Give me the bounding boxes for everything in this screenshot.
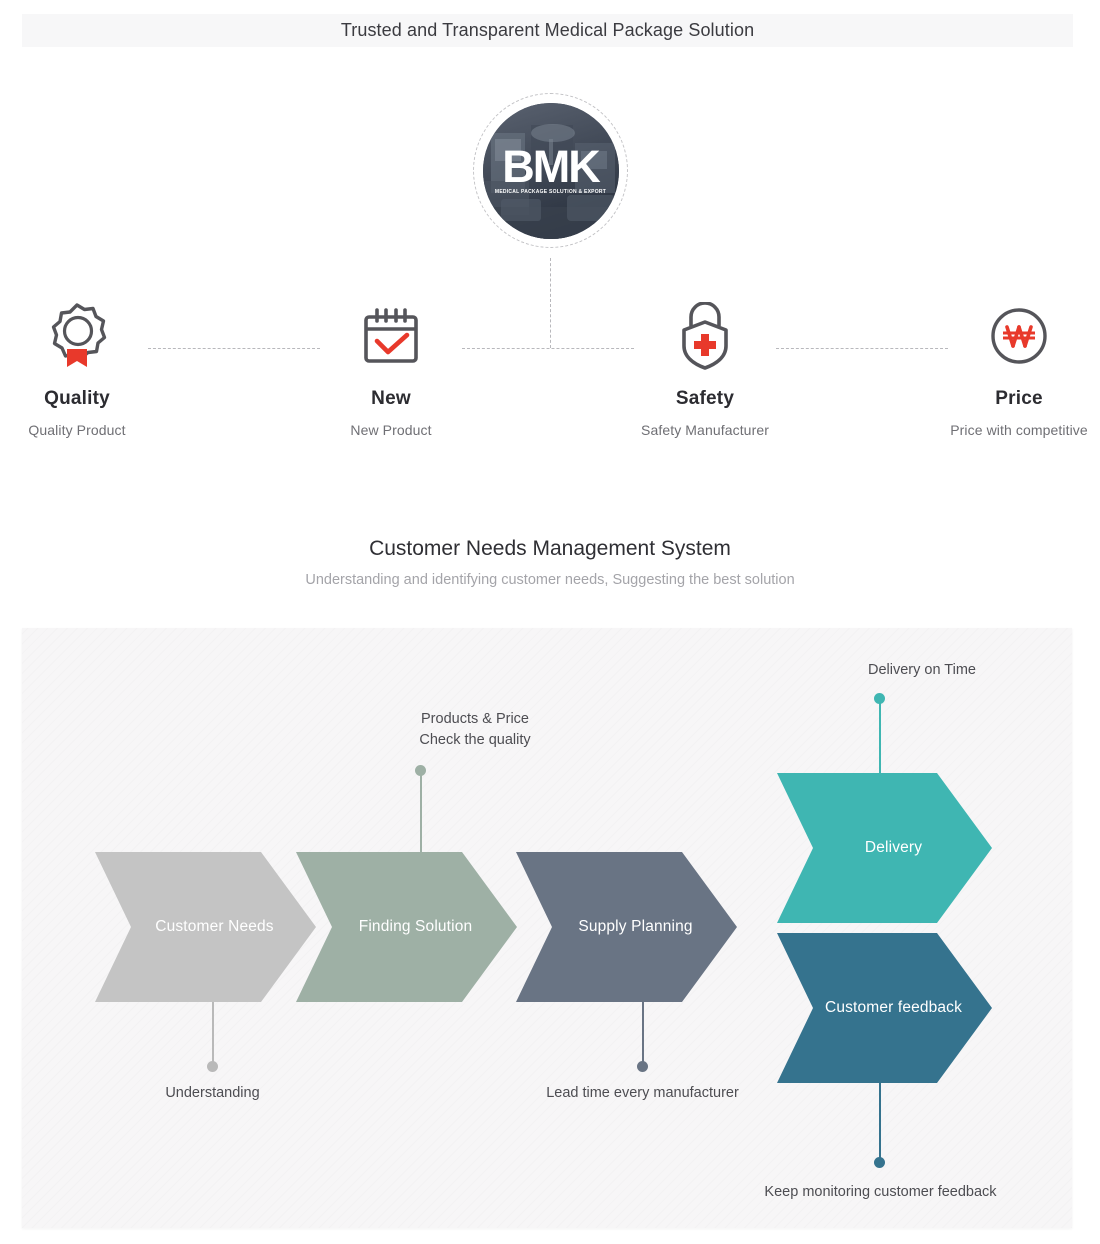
dot-delivery-on-time: [874, 693, 885, 704]
logo-name: BMK: [502, 146, 598, 189]
stem-lead-time: [642, 1002, 644, 1066]
logo-disc: BMK MEDICAL PACKAGE SOLUTION & EXPORT: [483, 103, 619, 239]
flow-step-label: Customer feedback: [825, 999, 962, 1017]
dot-products-price: [415, 765, 426, 776]
logo-wordmark: BMK MEDICAL PACKAGE SOLUTION & EXPORT: [483, 103, 619, 239]
feature-quality: Quality Quality Product: [0, 300, 187, 438]
flow-step-delivery[interactable]: Delivery: [777, 773, 992, 923]
flow-step-finding-solution[interactable]: Finding Solution: [296, 852, 517, 1002]
annotation-keep-monitoring: Keep monitoring customer feedback: [740, 1182, 1021, 1203]
flow-step-label: Delivery: [865, 839, 922, 857]
shield-lock-cross-icon: [595, 300, 815, 372]
flow-step-label: Finding Solution: [359, 918, 473, 936]
feature-title: Price: [909, 388, 1100, 410]
annotation-understanding: Understanding: [102, 1083, 323, 1104]
feature-title: New: [281, 388, 501, 410]
flow-step-label: Customer Needs: [155, 918, 273, 936]
company-logo: BMK MEDICAL PACKAGE SOLUTION & EXPORT: [473, 93, 628, 248]
logo-tagline: MEDICAL PACKAGE SOLUTION & EXPORT: [495, 189, 606, 195]
annotation-delivery-on-time: Delivery on Time: [812, 660, 1032, 681]
feature-safety: Safety Safety Manufacturer: [595, 300, 815, 438]
feature-row: Quality Quality Product New New Product: [0, 300, 1100, 450]
flow-step-label: Supply Planning: [578, 918, 692, 936]
feature-desc: Quality Product: [0, 422, 187, 438]
feature-desc: Safety Manufacturer: [595, 422, 815, 438]
stem-keep-monitoring: [879, 1080, 881, 1162]
page-root: Trusted and Transparent Medical Package …: [0, 0, 1100, 1244]
dot-understanding: [207, 1061, 218, 1072]
stem-understanding: [212, 1002, 214, 1066]
feature-title: Quality: [0, 388, 187, 410]
dot-lead-time: [637, 1061, 648, 1072]
flow-step-supply-planning[interactable]: Supply Planning: [516, 852, 737, 1002]
banner-title: Trusted and Transparent Medical Package …: [341, 20, 754, 41]
section-title: Customer Needs Management System: [0, 537, 1100, 561]
annotation-lead-time: Lead time every manufacturer: [502, 1083, 783, 1104]
flow-step-customer-feedback[interactable]: Customer feedback: [777, 933, 992, 1083]
stem-products-price: [420, 770, 422, 856]
feature-desc: Price with competitive: [909, 422, 1100, 438]
page-banner: Trusted and Transparent Medical Package …: [22, 14, 1073, 47]
feature-price: Price Price with competitive: [909, 300, 1100, 438]
feature-new: New New Product: [281, 300, 501, 438]
flow-diagram-panel: Delivery on Time Products & Price Check …: [22, 628, 1072, 1228]
section-subtitle: Understanding and identifying customer n…: [0, 572, 1100, 588]
annotation-products-price: Products & Price Check the quality: [355, 709, 595, 750]
feature-title: Safety: [595, 388, 815, 410]
dot-keep-monitoring: [874, 1157, 885, 1168]
flow-step-customer-needs[interactable]: Customer Needs: [95, 852, 316, 1002]
quality-badge-icon: [0, 300, 187, 372]
won-currency-circle-icon: [909, 300, 1100, 372]
stem-delivery-on-time: [879, 698, 881, 776]
feature-desc: New Product: [281, 422, 501, 438]
calendar-check-icon: [281, 300, 501, 372]
